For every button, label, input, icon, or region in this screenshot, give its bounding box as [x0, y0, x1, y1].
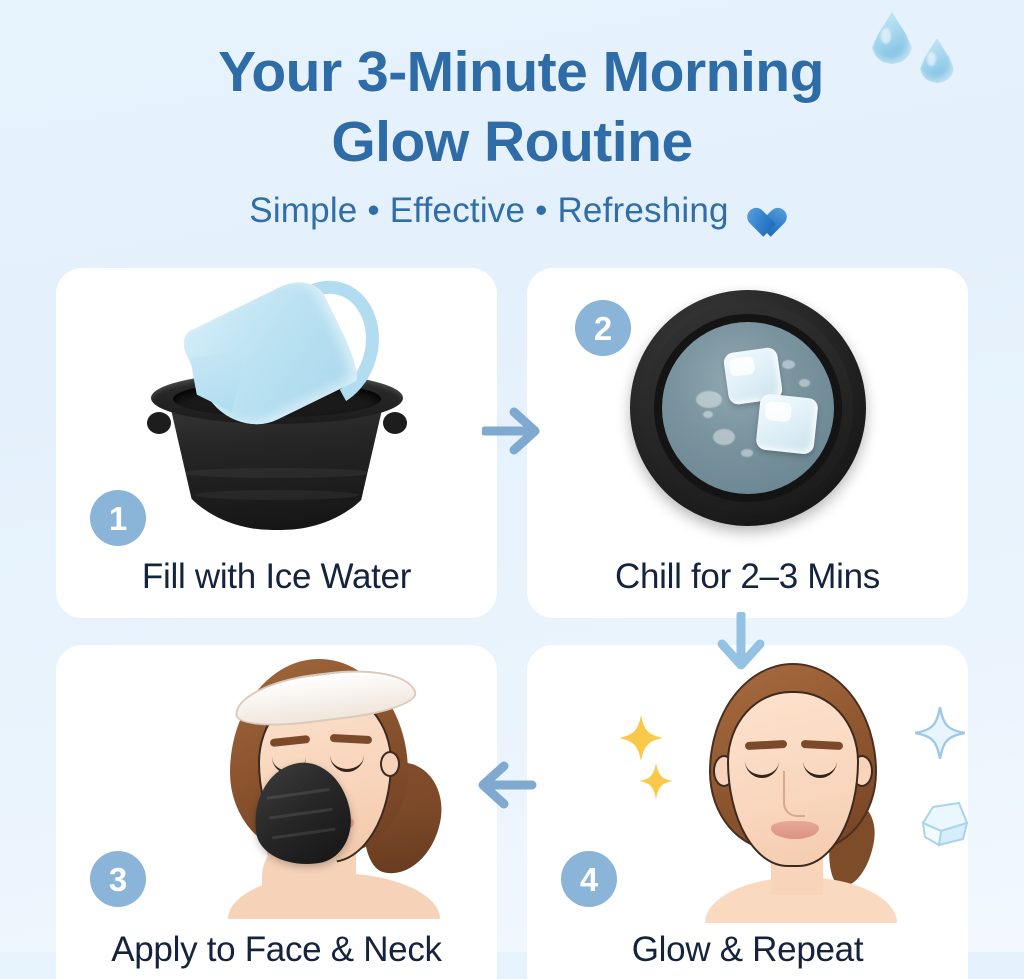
ice-water-bowl-icon: [630, 290, 866, 526]
subtitle-text: Simple • Effective • Refreshing: [249, 191, 728, 230]
step-caption-3: Apply to Face & Neck: [56, 929, 497, 971]
ice-cube-icon: [919, 801, 968, 849]
step-card-4[interactable]: 4 Glow & Repeat: [527, 645, 968, 979]
sparkle-icon: [639, 763, 673, 799]
water-droplet-icon: [920, 38, 954, 83]
step-caption-1: Fill with Ice Water: [56, 556, 497, 598]
header: Your 3-Minute Morning Glow Routine Simpl…: [0, 0, 1024, 232]
water-pitcher-icon: [190, 276, 380, 424]
blue-heart-icon: [741, 196, 775, 227]
step-card-3[interactable]: 3 Apply to Face & Neck: [56, 645, 497, 979]
step-badge-3: 3: [90, 851, 146, 907]
page-subtitle: Simple • Effective • Refreshing: [0, 190, 1024, 232]
steps-grid: 1 Fill with Ice Water: [0, 268, 1024, 952]
step-caption-2: Chill for 2–3 Mins: [527, 556, 968, 598]
step-card-2[interactable]: 2 Chill for 2–3 Mins: [527, 268, 968, 618]
step-badge-1: 1: [90, 490, 146, 546]
water-droplets-group: [868, 8, 976, 104]
step-caption-4: Glow & Repeat: [527, 929, 968, 971]
step-card-1[interactable]: 1 Fill with Ice Water: [56, 268, 497, 618]
woman-applying-sponge-icon: [204, 655, 454, 905]
page-title-line-2: Glow Routine: [0, 108, 1024, 176]
glowing-face-icon: [679, 663, 919, 913]
infographic-page: Your 3-Minute Morning Glow Routine Simpl…: [0, 0, 1024, 952]
step-badge-2: 2: [575, 300, 631, 356]
ice-cube-icon: [755, 393, 819, 455]
water-droplet-icon: [872, 12, 912, 64]
step-badge-4: 4: [561, 851, 617, 907]
sparkle-icon: [915, 707, 965, 759]
sparkle-icon: [619, 715, 663, 761]
